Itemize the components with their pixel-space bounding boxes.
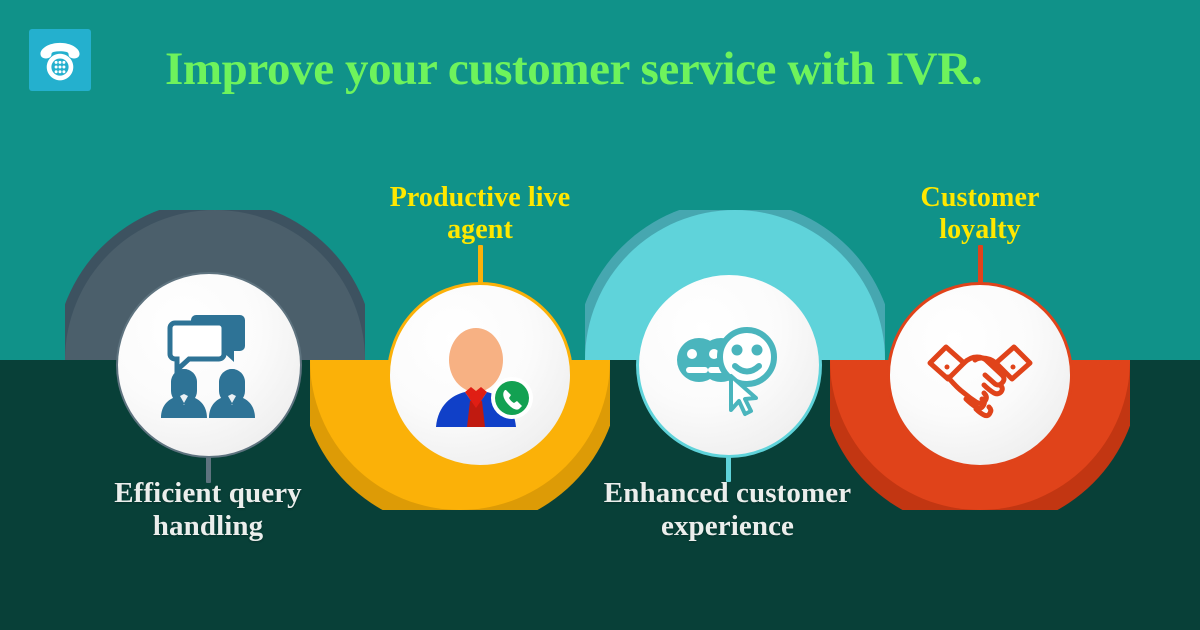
label-customer-loyalty: Customer loyalty: [880, 182, 1080, 245]
two-people-chat-bubbles-icon: [149, 305, 269, 425]
icon-bubble-productive-live-agent[interactable]: [387, 282, 573, 468]
icon-bubble-efficient-query-handling[interactable]: [116, 272, 302, 458]
icon-bubble-enhanced-customer-experience[interactable]: [636, 272, 822, 458]
label-enhanced-customer-experience: Enhanced customer experience: [575, 477, 880, 543]
label-efficient-query-handling: Efficient query handling: [78, 477, 338, 543]
infographic-canvas: Efficient query handling Productive live…: [0, 0, 1200, 630]
connector-customer-loyalty: [978, 245, 983, 283]
logo-tile[interactable]: [29, 29, 91, 91]
icon-bubble-customer-loyalty[interactable]: [887, 282, 1073, 468]
connector-productive-live-agent: [478, 245, 483, 283]
smiley-faces-cursor-icon: [669, 305, 789, 425]
rotary-telephone-icon: [35, 35, 85, 85]
handshake-icon: [920, 315, 1040, 435]
page-title: Improve your customer service with IVR.: [165, 42, 1115, 96]
agent-with-phone-icon: [420, 315, 540, 435]
label-productive-live-agent: Productive live agent: [355, 182, 605, 245]
